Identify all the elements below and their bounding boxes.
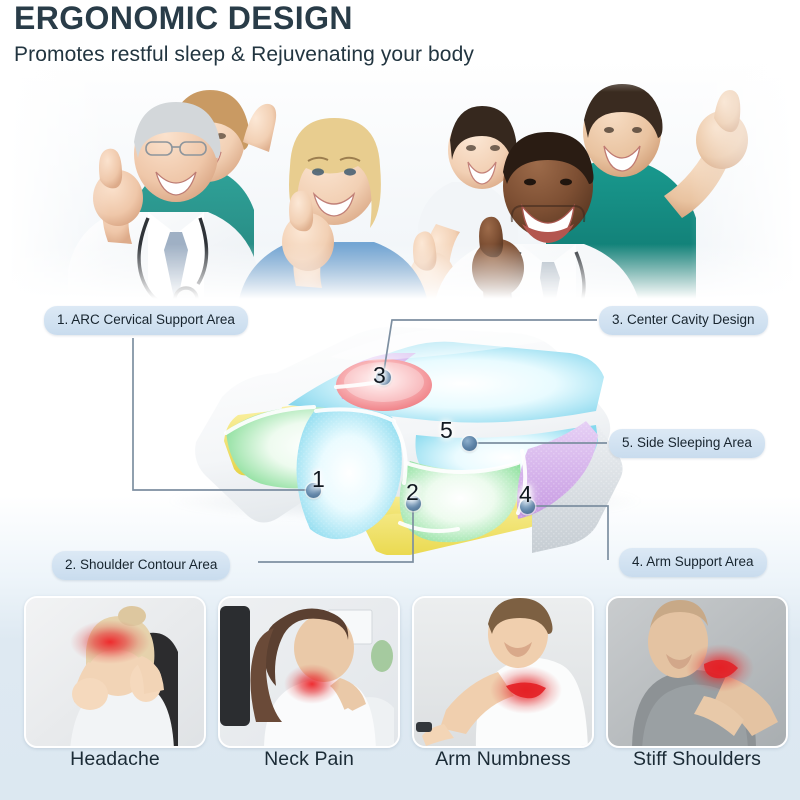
callout-1-label: 1. ARC Cervical Support Area — [57, 312, 235, 327]
medical-team-photo — [0, 46, 800, 314]
marker-dot-5[interactable] — [462, 436, 477, 451]
marker-number-1: 1 — [312, 468, 325, 491]
marker-number-4: 4 — [519, 483, 532, 506]
pain-card-neck-pain[interactable] — [218, 596, 400, 748]
marker-number-3: 3 — [373, 364, 386, 387]
pain-points-row: Headache — [0, 592, 800, 800]
page-subtitle: Promotes restful sleep & Rejuvenating yo… — [14, 43, 474, 67]
pain-caption-headache: Headache — [24, 748, 206, 771]
callout-5-side-sleeping[interactable]: 5. Side Sleeping Area — [609, 429, 765, 458]
marker-number-2: 2 — [406, 481, 419, 504]
pain-card-headache[interactable] — [24, 596, 206, 748]
arm-numbness-photo — [414, 598, 594, 748]
pain-card-arm-numbness[interactable] — [412, 596, 594, 748]
pain-card-stiff-shoulders[interactable] — [606, 596, 788, 748]
callout-3-label: 3. Center Cavity Design — [612, 312, 755, 327]
stiff-shoulders-photo — [608, 598, 788, 748]
page-title: ERGONOMIC DESIGN — [14, 2, 474, 36]
marker-number-5: 5 — [440, 419, 453, 442]
callout-1-arc-cervical-support[interactable]: 1. ARC Cervical Support Area — [44, 306, 248, 335]
infographic-page: ERGONOMIC DESIGN Promotes restful sleep … — [0, 0, 800, 800]
neck-pain-photo — [220, 598, 400, 748]
headache-photo — [26, 598, 206, 748]
callout-4-arm-support[interactable]: 4. Arm Support Area — [619, 548, 767, 577]
callout-4-label: 4. Arm Support Area — [632, 554, 754, 569]
callout-2-label: 2. Shoulder Contour Area — [65, 557, 217, 572]
callout-5-label: 5. Side Sleeping Area — [622, 435, 752, 450]
pain-caption-arm-numbness: Arm Numbness — [412, 748, 594, 771]
header: ERGONOMIC DESIGN Promotes restful sleep … — [14, 2, 474, 67]
pain-caption-neck-pain: Neck Pain — [218, 748, 400, 771]
pain-caption-stiff-shoulders: Stiff Shoulders — [606, 748, 788, 771]
callout-3-center-cavity[interactable]: 3. Center Cavity Design — [599, 306, 768, 335]
callout-2-shoulder-contour[interactable]: 2. Shoulder Contour Area — [52, 551, 230, 580]
